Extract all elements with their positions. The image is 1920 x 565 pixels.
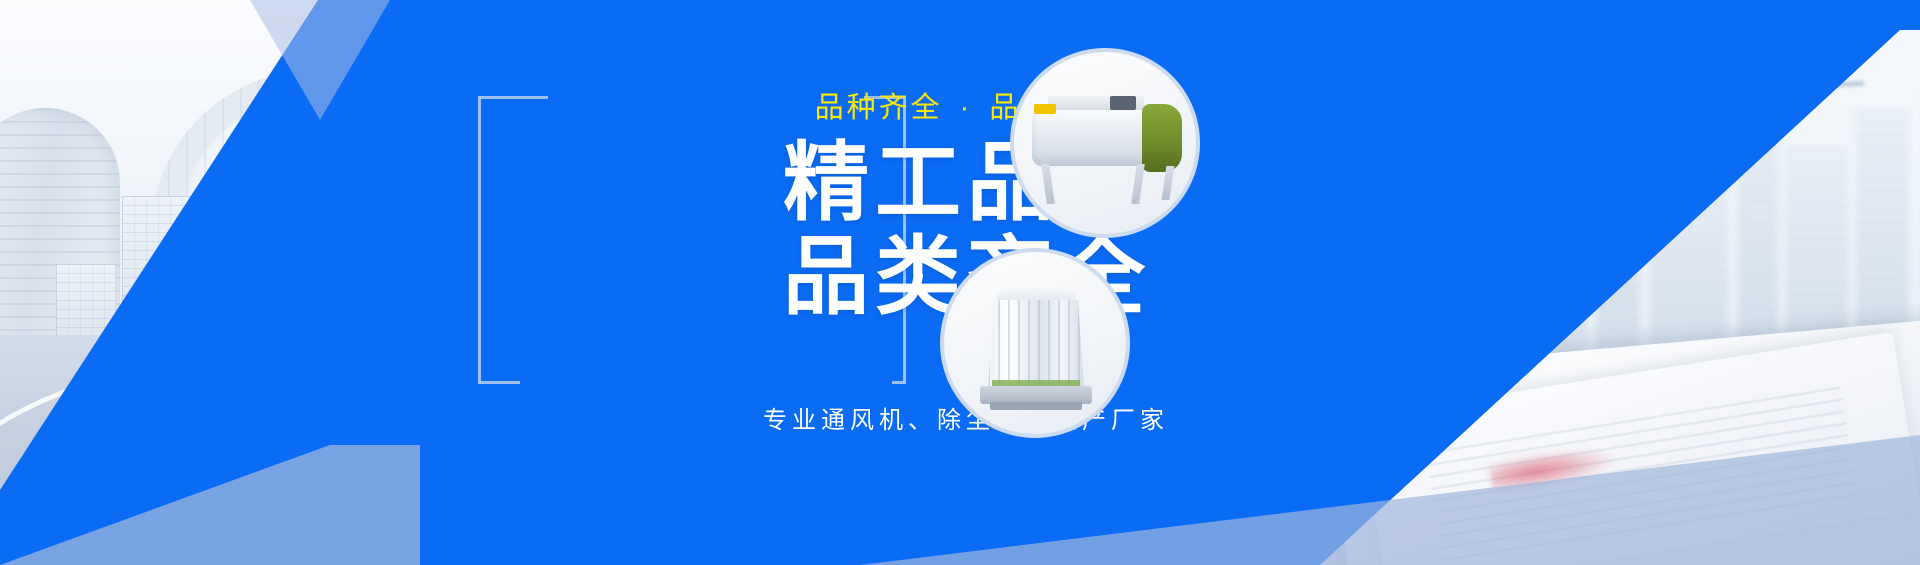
machine-leg <box>1041 164 1055 204</box>
tagline-left-text: 品种齐全 <box>815 92 943 124</box>
machine-body <box>1032 110 1160 166</box>
product-circle-dust-collector <box>1010 48 1200 238</box>
banner-subtitle: 专业通风机、除尘设备生产厂家 <box>0 400 1920 435</box>
cooling-tower-body <box>988 300 1084 388</box>
machine-green-end-cap <box>1142 104 1182 172</box>
machine-yellow-stripe <box>1034 104 1056 114</box>
promo-banner: 品种齐全 · 品质保障 精工品质 品类齐全 专业通风机、除尘设备生产厂家 <box>0 0 1920 565</box>
cooling-tower-foot <box>990 402 1082 410</box>
banner-tagline: 品种齐全 · 品质保障 <box>0 84 1920 126</box>
machine-control-panel <box>1110 96 1136 110</box>
frame-gap-bottom <box>520 374 892 394</box>
product-circle-cooling-tower <box>940 248 1130 438</box>
tagline-separator: · <box>954 92 979 125</box>
machine-leg <box>1131 164 1145 204</box>
